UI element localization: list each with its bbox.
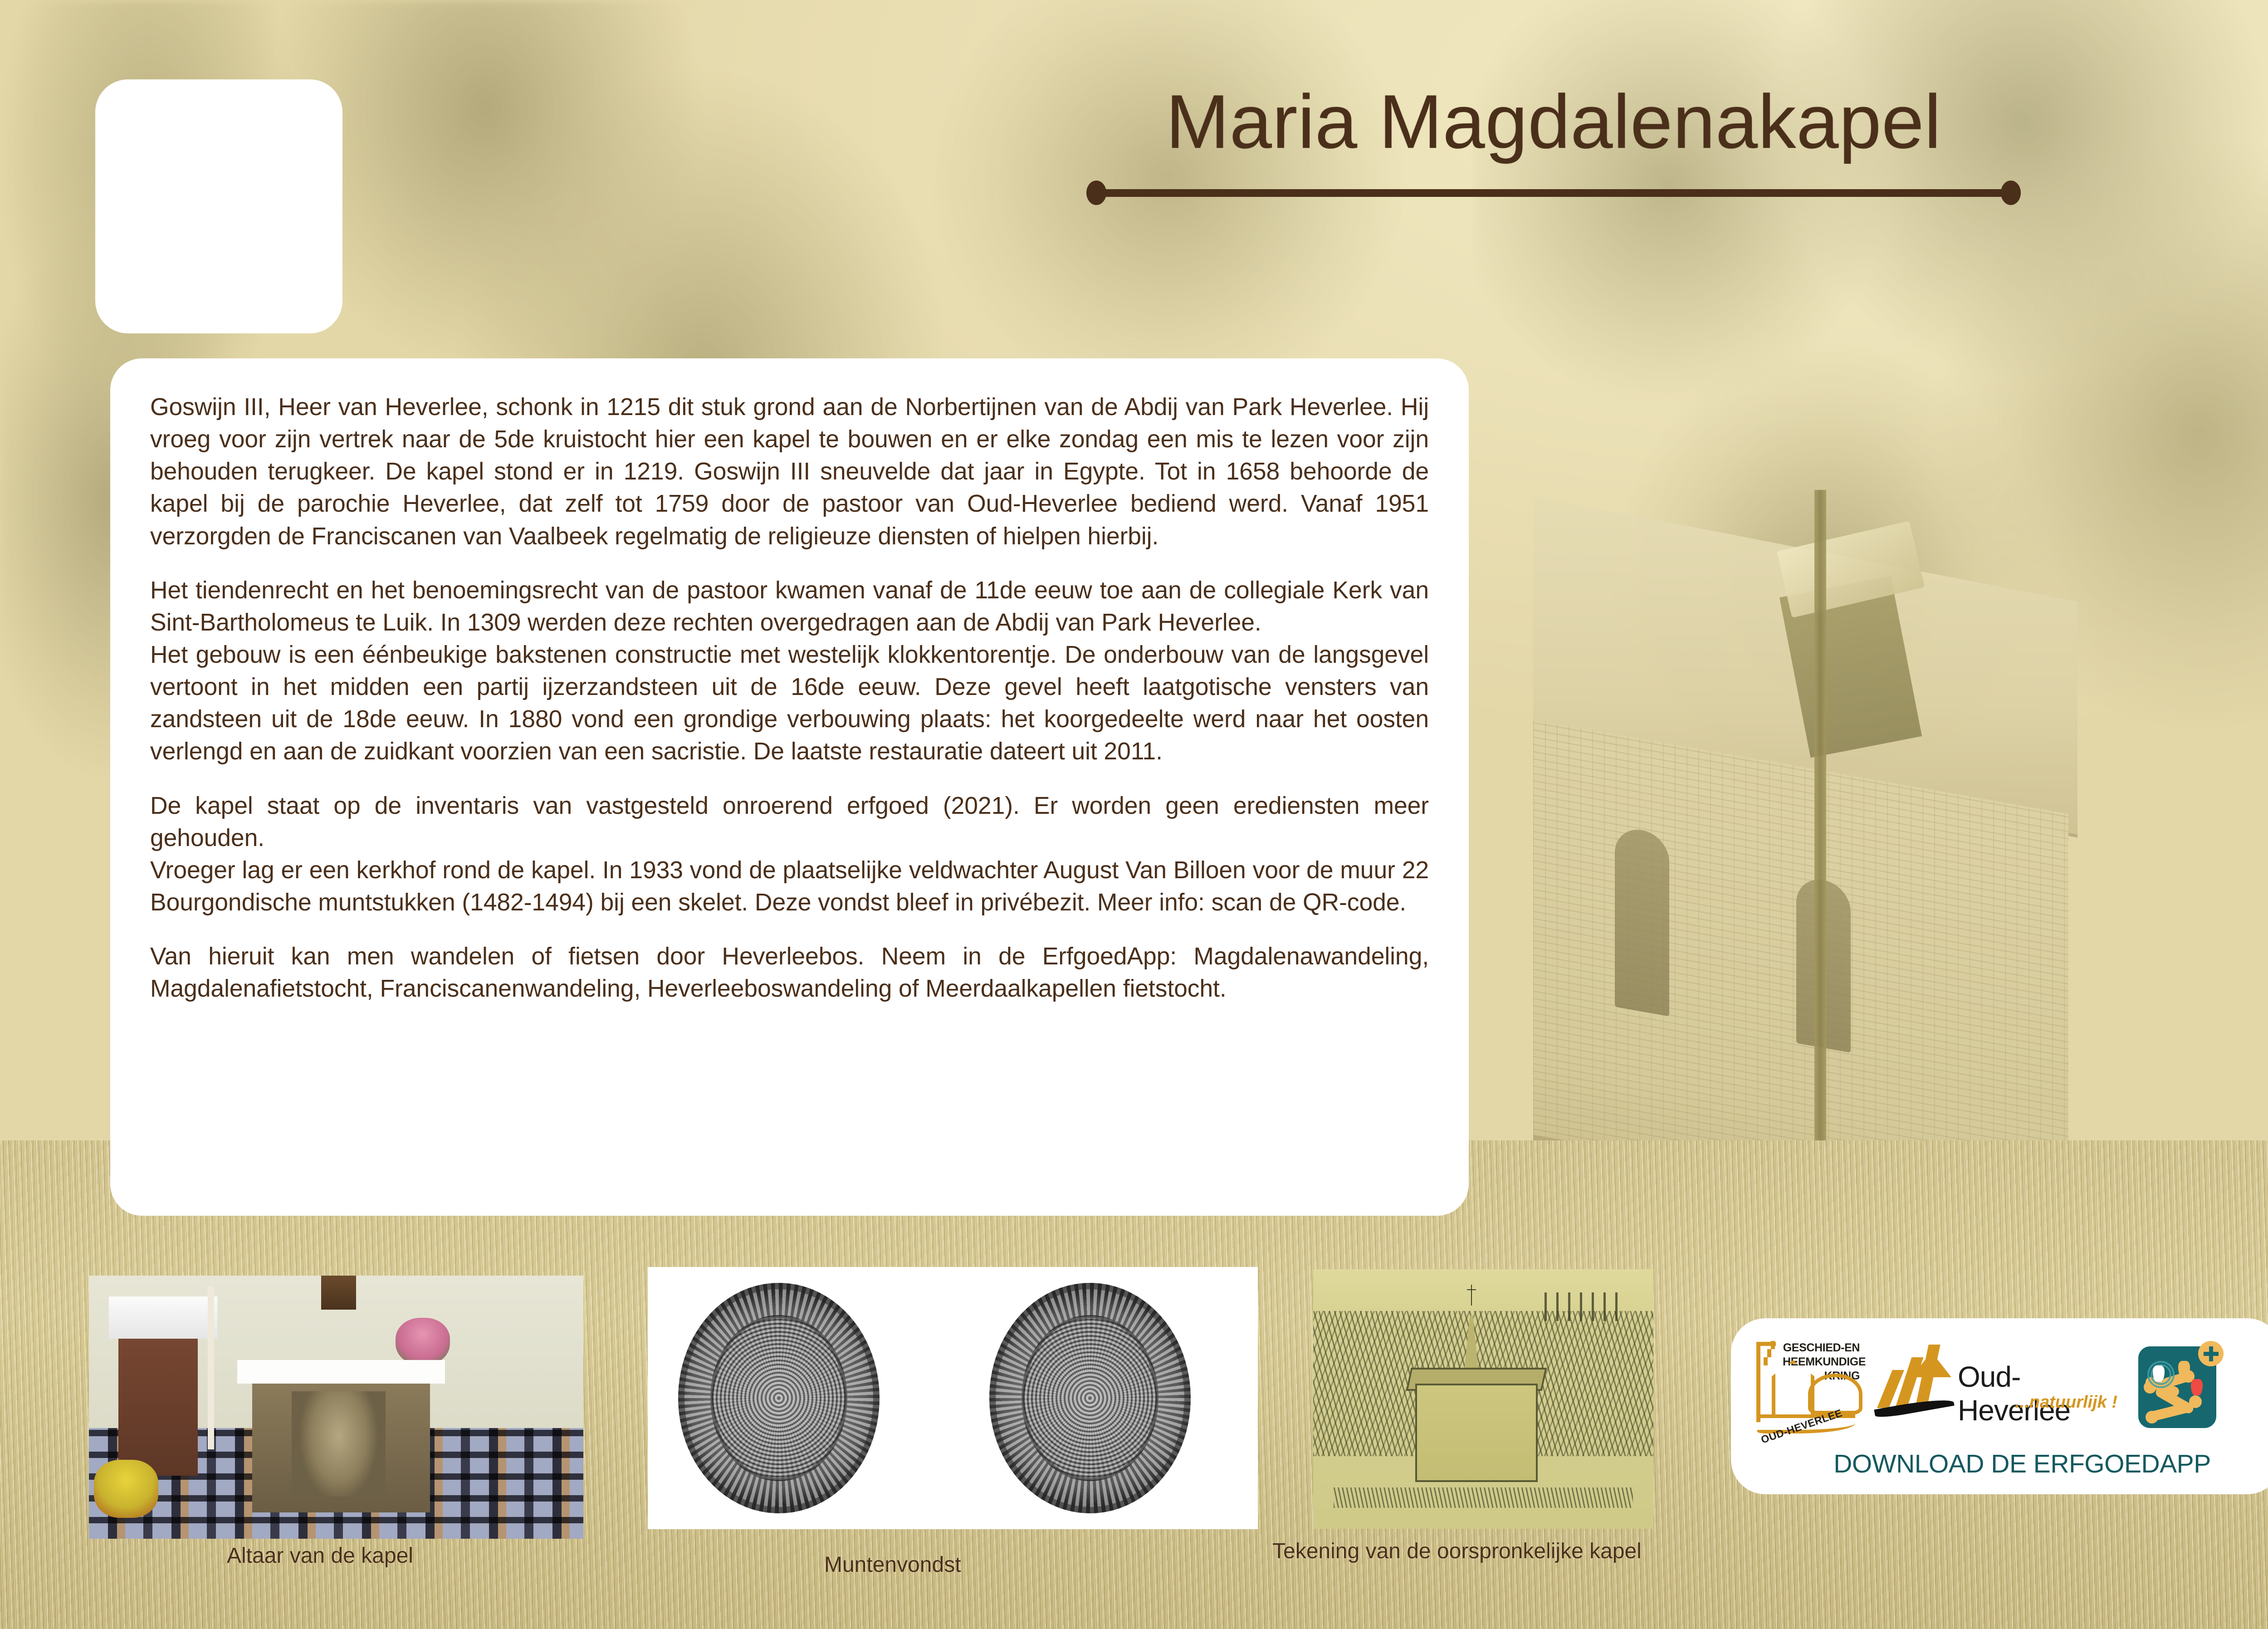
caption-coins: Muntenvondst xyxy=(824,1552,961,1577)
photo-altar xyxy=(89,1276,583,1539)
paschal-candle xyxy=(208,1286,214,1449)
step-gable-icon xyxy=(1760,1341,1778,1371)
paragraph-heritage-status: De kapel staat op de inventaris van vast… xyxy=(150,790,1429,854)
wall-cross xyxy=(321,1276,356,1310)
paragraph-history: Goswijn III, Heer van Heverlee, schonk i… xyxy=(150,391,1429,553)
yellow-flowers xyxy=(94,1460,158,1518)
open-book xyxy=(109,1296,218,1339)
geschied-heemkundige-kring-logo[interactable]: GESCHIED-EN HEEMKUNDIGE KRING OUD-HEVERL… xyxy=(1752,1338,1862,1434)
plus-badge-icon xyxy=(2198,1341,2224,1366)
route-node xyxy=(2146,1411,2158,1424)
ghk-line-1: GESCHIED-EN xyxy=(1783,1341,1860,1355)
coin-reverse xyxy=(989,1283,1191,1514)
footer-logo-card: GESCHIED-EN HEEMKUNDIGE KRING OUD-HEVERL… xyxy=(1731,1318,2268,1494)
page-title: Maria Magdalenakapel xyxy=(998,82,2109,161)
map-pin-icon xyxy=(2178,1361,2190,1377)
drawing-chapel xyxy=(1415,1384,1538,1482)
caption-altar: Altaar van de kapel xyxy=(227,1543,413,1568)
photo-coins xyxy=(648,1267,1258,1529)
chapel-window xyxy=(1615,825,1669,1016)
ichthys-carving xyxy=(292,1391,386,1497)
paragraph-architecture: Het gebouw is een éénbeukige bakstenen c… xyxy=(150,639,1429,768)
photo-historic-drawing xyxy=(1313,1269,1653,1529)
oud-heverlee-municipality-logo[interactable]: Oud-Heverlee ...natuurlijk ! xyxy=(1872,1342,2126,1431)
map-pin-icon xyxy=(2191,1379,2203,1395)
logo-row: GESCHIED-EN HEEMKUNDIGE KRING OUD-HEVERL… xyxy=(1752,1338,2261,1434)
coin-obverse xyxy=(678,1283,880,1514)
erfgoedapp-icon[interactable] xyxy=(2136,1338,2224,1434)
divider-bar xyxy=(1096,189,2011,197)
arrow-group-icon xyxy=(1874,1350,1951,1418)
drawing-wall xyxy=(1334,1487,1633,1508)
arrow-head-icon xyxy=(1911,1352,1951,1377)
route-node xyxy=(2189,1395,2202,1408)
header: Maria Magdalenakapel xyxy=(998,82,2109,205)
download-erfgoedapp-label[interactable]: DOWNLOAD DE ERFGOEDAPP xyxy=(1731,1449,2268,1479)
caption-drawing: Tekening van de oorspronkelijke kapel xyxy=(1272,1539,1642,1564)
altar-cloth xyxy=(237,1360,445,1384)
municipality-tagline: ...natuurlijk ! xyxy=(2015,1393,2117,1412)
map-pin-icon xyxy=(2153,1365,2165,1382)
paragraph-routes: Van hieruit kan men wandelen of fietsen … xyxy=(150,940,1429,1005)
rose-bouquet xyxy=(396,1318,450,1365)
title-divider xyxy=(1086,181,2021,205)
paragraph-coin-find: Vroeger lag er een kerkhof rond de kapel… xyxy=(150,854,1429,919)
qr-code-placeholder[interactable] xyxy=(95,79,342,333)
info-text-panel: Goswijn III, Heer van Heverlee, schonk i… xyxy=(110,358,1469,1216)
divider-cap-right xyxy=(2001,181,2021,205)
paragraph-tithe-rights: Het tiendenrecht en het benoemingsrecht … xyxy=(150,574,1429,639)
